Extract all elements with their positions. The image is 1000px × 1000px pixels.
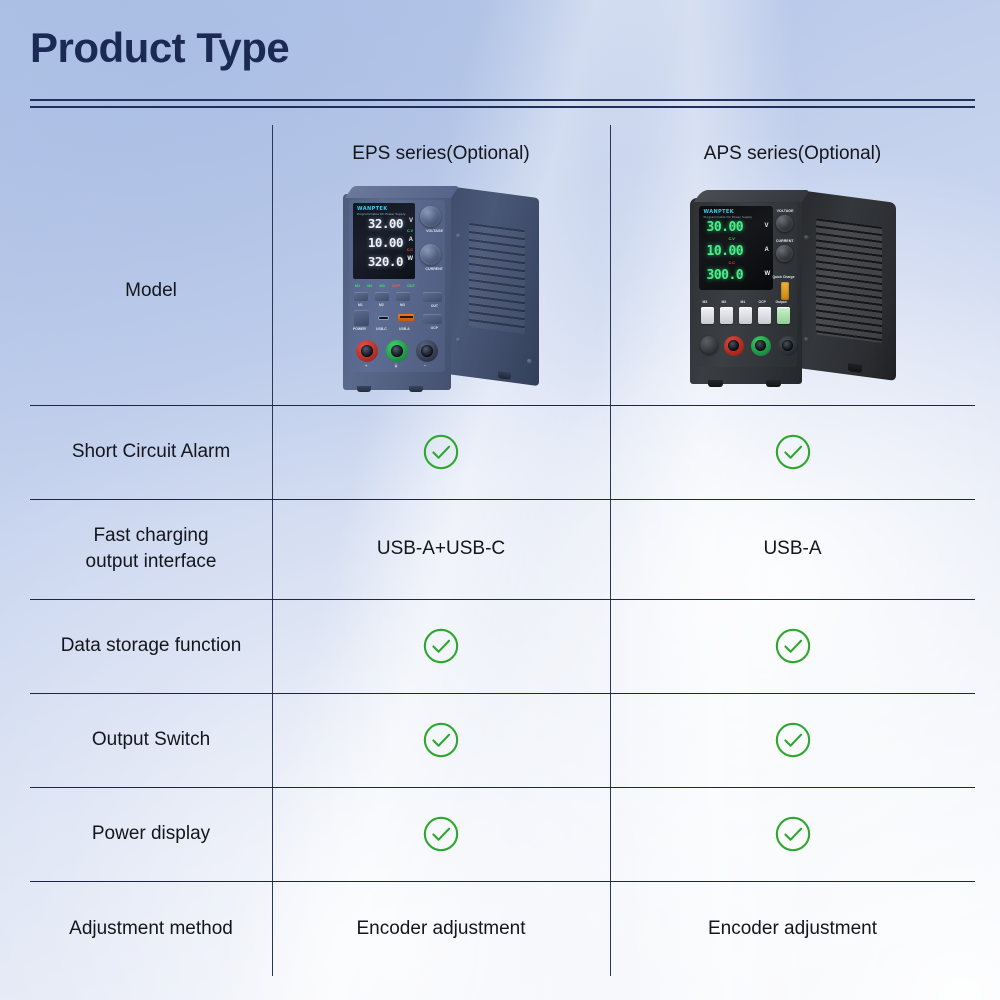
aps-voltage-unit: V bbox=[765, 223, 769, 229]
table-row: Short Circuit Alarm bbox=[30, 405, 975, 499]
eps-current-knob bbox=[420, 244, 441, 265]
cell-aps-output-switch bbox=[610, 721, 975, 759]
header-eps-cell: EPS series(Optional) bbox=[272, 143, 610, 165]
aps-cv-indicator: C.V bbox=[729, 237, 735, 241]
cell-aps-short-circuit-alarm bbox=[610, 433, 975, 471]
aps-label-m2: M2 bbox=[722, 300, 727, 304]
aps-current-unit: A bbox=[765, 247, 769, 253]
eps-led-ocp: OCP bbox=[392, 284, 400, 288]
aps-current-knob-label: CURRENT bbox=[776, 239, 794, 243]
cell-eps-short-circuit-alarm bbox=[272, 433, 610, 471]
cell-value: Encoder adjustment bbox=[357, 918, 526, 940]
cell-eps-data-storage bbox=[272, 627, 610, 665]
cell-aps-data-storage bbox=[610, 627, 975, 665]
eps-voltage-knob bbox=[420, 206, 441, 227]
aps-power-knob bbox=[700, 336, 718, 354]
eps-out-button bbox=[423, 292, 442, 302]
eps-current-unit: A bbox=[409, 237, 413, 243]
eps-voltage-unit: V bbox=[409, 218, 413, 224]
aps-brand-logo: WANPTEKProgrammable DC Power Supply bbox=[704, 209, 753, 219]
comparison-table: EPS series(Optional) APS series(Optional… bbox=[30, 120, 975, 976]
eps-power-unit: W bbox=[407, 256, 413, 262]
cell-eps-power-display bbox=[272, 815, 610, 853]
cell-value: USB-A bbox=[763, 538, 821, 560]
eps-power-value: 320.0 bbox=[368, 254, 403, 269]
aps-quick-charge-port-icon bbox=[781, 282, 789, 300]
cell-value: USB-A+USB-C bbox=[377, 538, 505, 560]
eps-current-knob-label: CURRENT bbox=[425, 267, 443, 271]
eps-button-m3 bbox=[396, 292, 410, 301]
eps-usb-a-port-icon bbox=[398, 314, 414, 321]
row-label-model: Model bbox=[30, 278, 272, 304]
eps-cv-indicator: C.V bbox=[407, 229, 413, 233]
title-divider bbox=[30, 99, 975, 108]
table-row: Output Switch bbox=[30, 693, 975, 787]
aps-button-m1 bbox=[739, 307, 752, 324]
table-row: Power display bbox=[30, 787, 975, 881]
aps-current-value: 10.00 bbox=[707, 244, 744, 259]
check-icon bbox=[774, 627, 812, 665]
eps-display: WANPTEKProgrammable DC Power Supply 32.0… bbox=[353, 203, 415, 279]
eps-terminal-ground bbox=[386, 340, 408, 362]
row-label-power-display: Power display bbox=[30, 821, 272, 847]
aps-current-knob bbox=[776, 245, 793, 262]
aps-label-output: Output bbox=[776, 300, 787, 304]
eps-terminal-positive bbox=[356, 340, 378, 362]
eps-button-m1 bbox=[354, 292, 368, 301]
aps-label-m3: M3 bbox=[703, 300, 708, 304]
aps-terminal-negative bbox=[778, 336, 798, 356]
cell-value: Encoder adjustment bbox=[708, 918, 877, 940]
table-row: Adjustment method Encoder adjustment Enc… bbox=[30, 881, 975, 976]
eps-voltage-knob-label: VOLTAGE bbox=[426, 229, 443, 233]
eps-terminal-label-positive: + bbox=[365, 363, 367, 368]
cell-aps-power-display bbox=[610, 815, 975, 853]
eps-status-led-row: M1 M2 M3 OCP OUT bbox=[355, 284, 415, 288]
eps-led-out: OUT bbox=[407, 284, 415, 288]
eps-led-m2: M2 bbox=[367, 284, 372, 288]
eps-cc-indicator: C.C bbox=[407, 248, 413, 252]
row-label-output-switch: Output Switch bbox=[30, 727, 272, 753]
eps-brand-logo: WANPTEKProgrammable DC Power Supply bbox=[357, 206, 406, 216]
cell-aps-model: WANPTEKProgrammable DC Power Supply 30.0… bbox=[610, 188, 975, 394]
eps-label-m2: M2 bbox=[379, 303, 384, 307]
aps-button-output bbox=[777, 307, 790, 324]
aps-voltage-value: 30.00 bbox=[707, 220, 744, 235]
eps-ocp-button bbox=[423, 314, 442, 324]
eps-usb-a-label: USB-A bbox=[399, 327, 410, 331]
table-row: Model WANPTEKProgrammable DC Power Suppl… bbox=[30, 176, 975, 405]
check-icon bbox=[422, 433, 460, 471]
check-icon bbox=[774, 433, 812, 471]
cell-eps-model: WANPTEKProgrammable DC Power Supply 32.0… bbox=[272, 186, 610, 396]
aps-power-unit: W bbox=[765, 271, 771, 277]
cell-eps-adjustment-method: Encoder adjustment bbox=[272, 918, 610, 940]
aps-button-m2 bbox=[720, 307, 733, 324]
row-label-data-storage-function: Data storage function bbox=[30, 633, 272, 659]
aps-terminal-positive bbox=[724, 336, 744, 356]
cell-aps-adjustment-method: Encoder adjustment bbox=[610, 918, 975, 940]
aps-voltage-knob-label: VOLTAGE bbox=[777, 209, 794, 213]
table-row: Data storage function bbox=[30, 599, 975, 693]
aps-button-ocp bbox=[758, 307, 771, 324]
cell-eps-fast-charging: USB-A+USB-C bbox=[272, 538, 610, 560]
aps-display: WANPTEKProgrammable DC Power Supply 30.0… bbox=[699, 206, 773, 290]
aps-power-supply-photo: WANPTEKProgrammable DC Power Supply 30.0… bbox=[690, 188, 896, 394]
aps-voltage-knob bbox=[776, 215, 793, 232]
aps-terminal-ground bbox=[751, 336, 771, 356]
table-row: Fast charging output interface USB-A+USB… bbox=[30, 499, 975, 599]
aps-cc-indicator: C.C bbox=[729, 261, 736, 265]
table-header-row: EPS series(Optional) APS series(Optional… bbox=[30, 132, 975, 176]
check-icon bbox=[774, 815, 812, 853]
cell-aps-fast-charging: USB-A bbox=[610, 538, 975, 560]
eps-led-m3: M3 bbox=[380, 284, 385, 288]
eps-usb-c-port-icon bbox=[378, 316, 389, 320]
eps-power-button bbox=[354, 310, 369, 326]
aps-label-m1: M1 bbox=[741, 300, 746, 304]
eps-voltage-value: 32.00 bbox=[368, 216, 403, 231]
aps-power-value: 300.0 bbox=[707, 268, 744, 283]
row-label-fast-charging-output-interface: Fast charging output interface bbox=[30, 523, 272, 574]
check-icon bbox=[422, 815, 460, 853]
eps-label-m1: M1 bbox=[358, 303, 363, 307]
eps-power-supply-photo: WANPTEKProgrammable DC Power Supply 32.0… bbox=[343, 186, 539, 396]
aps-button-m3 bbox=[701, 307, 714, 324]
eps-terminal-negative bbox=[416, 340, 438, 362]
eps-terminal-label-ground: ⏚ bbox=[394, 363, 398, 369]
row-label-short-circuit-alarm: Short Circuit Alarm bbox=[30, 439, 272, 465]
eps-out-label: OUT bbox=[431, 304, 438, 308]
cell-eps-output-switch bbox=[272, 721, 610, 759]
page-title: Product Type bbox=[30, 24, 289, 72]
row-label-adjustment-method: Adjustment method bbox=[30, 916, 272, 942]
eps-led-m1: M1 bbox=[355, 284, 360, 288]
aps-quick-charge-label: Quick Charge bbox=[772, 275, 794, 279]
eps-ocp-label: OCP bbox=[431, 326, 438, 330]
check-icon bbox=[422, 721, 460, 759]
eps-button-m2 bbox=[375, 292, 389, 301]
aps-label-ocp: OCP bbox=[759, 300, 766, 304]
eps-current-value: 10.00 bbox=[368, 235, 403, 250]
check-icon bbox=[422, 627, 460, 665]
eps-label-m3: M3 bbox=[400, 303, 405, 307]
eps-terminal-label-negative: − bbox=[424, 363, 426, 368]
header-aps-cell: APS series(Optional) bbox=[610, 143, 975, 165]
eps-usb-c-label: USB-C bbox=[376, 327, 387, 331]
check-icon bbox=[774, 721, 812, 759]
column-header-eps: EPS series(Optional) bbox=[352, 143, 529, 165]
eps-power-label: POWER bbox=[353, 327, 366, 331]
column-header-aps: APS series(Optional) bbox=[704, 143, 881, 165]
